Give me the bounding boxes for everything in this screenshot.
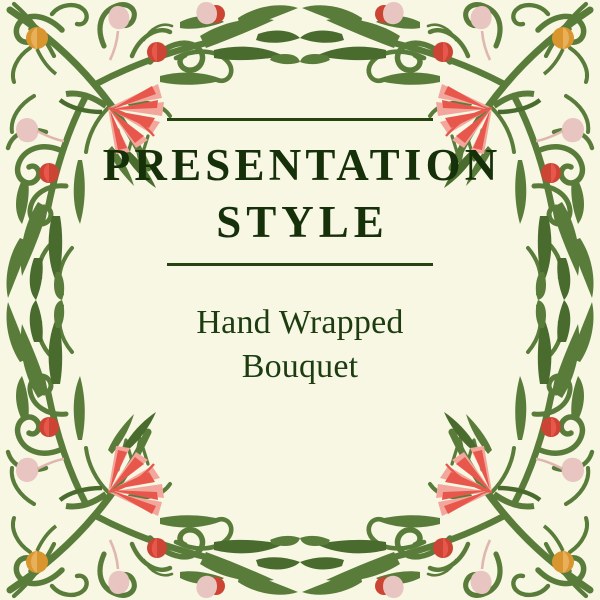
- divider-rule-top: [167, 118, 433, 121]
- page-title-line-1: PRESENTATION: [0, 137, 600, 194]
- subtitle: Hand Wrapped Bouquet: [0, 301, 600, 387]
- divider-rule-bottom: [167, 263, 433, 266]
- subtitle-line-1: Hand Wrapped: [0, 301, 600, 344]
- page-title-line-2: STYLE: [0, 194, 600, 251]
- subtitle-line-2: Bouquet: [0, 345, 600, 388]
- title-text-block: PRESENTATION STYLE Hand Wrapped Bouquet: [0, 118, 600, 388]
- presentation-style-card: PRESENTATION STYLE Hand Wrapped Bouquet: [0, 0, 600, 600]
